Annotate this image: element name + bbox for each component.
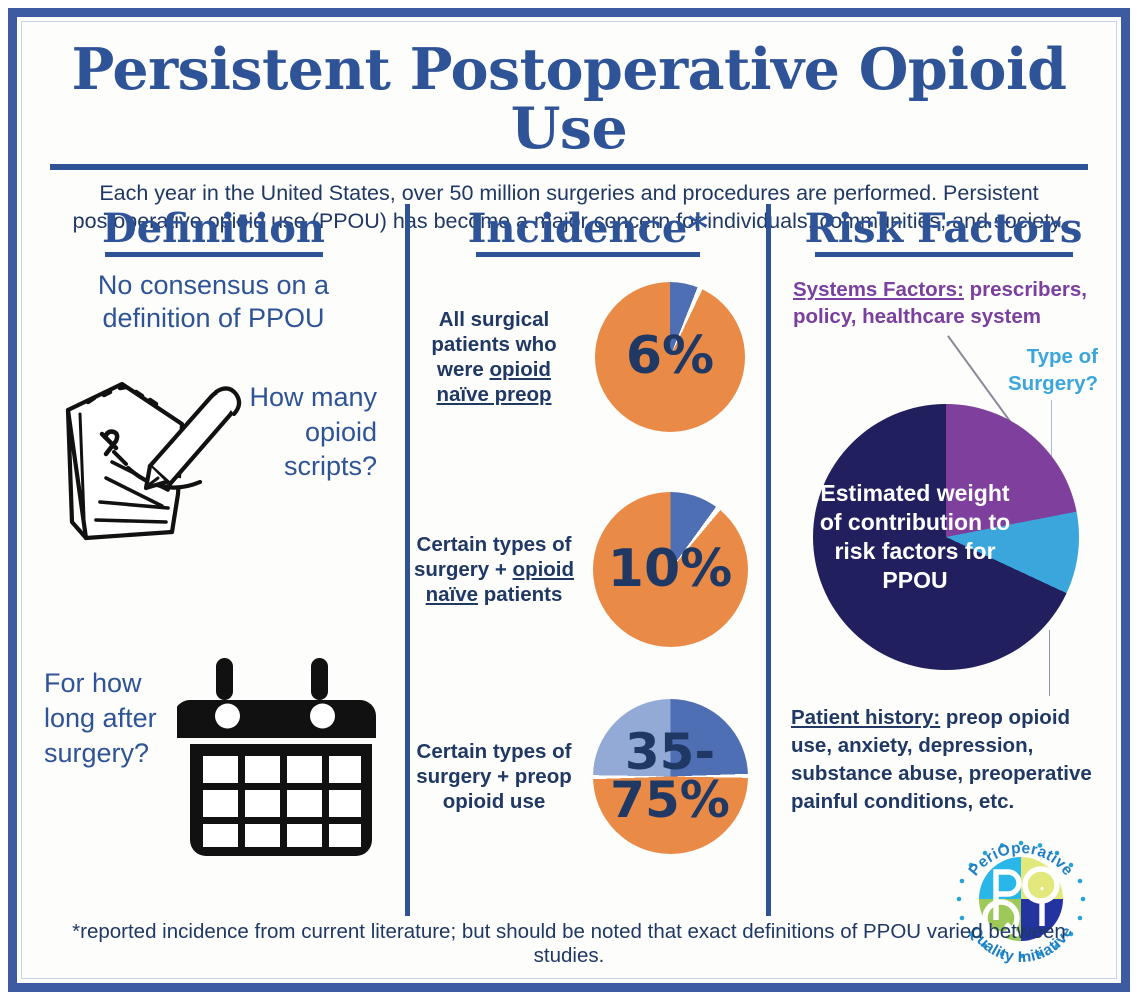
risk-heading-underline [815,252,1073,257]
poster-frame: Persistent Postoperative Opioid Use Each… [8,8,1130,992]
definition-heading: Definition [22,204,405,250]
incidence-heading-underline [476,252,700,257]
risk-heading: Risk Factors [771,204,1116,250]
incidence-value-label: 10% [593,492,748,647]
incidence-row: Certain types of surgery + preop opioid … [410,699,766,854]
poster-inner: Persistent Postoperative Opioid Use Each… [21,21,1117,979]
systems-factors-text: Systems Factors: prescribers, policy, he… [793,276,1093,330]
patient-history-text: Patient history: preop opioid use, anxie… [791,704,1111,816]
incidence-value-label: 6% [595,282,745,432]
columns-container: Definition No consensus on a definition … [22,204,1116,916]
risk-pie-center-label: Estimated weight of contribution to risk… [813,404,1079,670]
calendar-icon [177,654,387,869]
column-definition: Definition No consensus on a definition … [22,204,405,916]
prescription-pad-icon [22,362,237,562]
incidence-row-label: Certain types of surgery + preop opioid … [410,739,582,815]
incidence-label-part-2: patients [478,583,562,606]
incidence-value-label: 35-75% [611,699,729,854]
systems-factors-label: Systems Factors: [793,278,964,301]
risk-weight-pie-chart: Estimated weight of contribution to risk… [813,404,1079,670]
footnote-text: *reported incidence from current literat… [22,920,1116,968]
incidence-row: Certain types of surgery + opioid naïve … [410,492,766,647]
incidence-pie-chart: 6% [582,282,758,432]
type-of-surgery-text: Type of Surgery? [990,344,1098,397]
incidence-pie-chart: 10% [582,492,758,647]
definition-rx-block: How many opioid scripts? [22,362,405,562]
infographic-poster: Persistent Postoperative Opioid Use Each… [0,0,1138,1000]
column-risk-factors: Risk Factors Systems Factors: prescriber… [766,204,1116,916]
column-incidence: Incidence* All surgical patients who wer… [405,204,766,916]
definition-lead-text: No consensus on a definition of PPOU [22,257,405,336]
definition-calendar-block: For how long after surgery? [22,654,405,869]
calendar-question-text: For how long after surgery? [22,654,177,771]
incidence-heading: Incidence* [410,204,766,250]
incidence-row: All surgical patients who were opioid na… [410,282,766,432]
page-title: Persistent Postoperative Opioid Use [22,40,1116,159]
incidence-label-part: Certain types of surgery + preop opioid … [416,740,572,813]
patient-history-label: Patient history: [791,706,940,729]
incidence-pie-chart: 35-75% [582,699,758,854]
incidence-row-label: All surgical patients who were opioid na… [410,307,582,408]
incidence-row-label: Certain types of surgery + opioid naïve … [410,532,582,608]
rx-question-text: How many opioid scripts? [237,362,387,484]
